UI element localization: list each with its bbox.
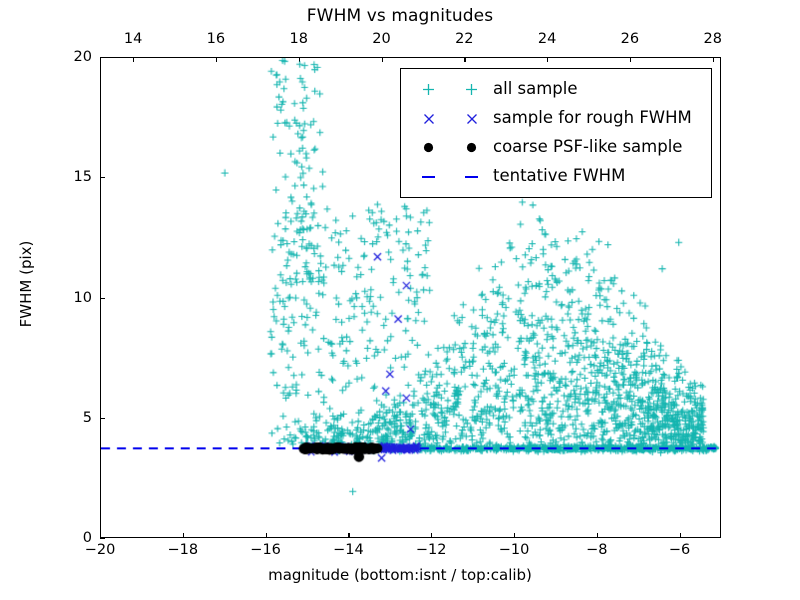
x-tick-label-top: 28 <box>703 31 721 47</box>
x-tick-label-top: 16 <box>207 31 225 47</box>
legend-marker <box>407 75 493 104</box>
y-tick-label: 15 <box>52 169 92 185</box>
legend: all sample sample for rough FWHM coarse … <box>400 68 712 198</box>
legend-marker <box>407 162 493 191</box>
x-tick-label-bottom: −16 <box>250 542 281 558</box>
legend-label: coarse PSF-like sample <box>493 139 682 156</box>
legend-item[interactable]: all sample <box>407 75 703 104</box>
x-tick-label-bottom: −6 <box>669 542 690 558</box>
y-tick <box>100 538 105 539</box>
legend-item[interactable]: tentative FWHM <box>407 162 703 191</box>
y-tick-label: 0 <box>52 530 92 546</box>
x-tick-label-top: 24 <box>538 31 556 47</box>
page-title: FWHM vs magnitudes <box>0 6 800 26</box>
legend-marker <box>407 133 493 162</box>
y-tick-label: 5 <box>52 410 92 426</box>
y-axis-label: FWHM (pix) <box>17 184 35 384</box>
figure-canvas: FWHM vs magnitudes magnitude (bottom:isn… <box>0 0 800 600</box>
x-axis-label: magnitude (bottom:isnt / top:calib) <box>0 566 800 584</box>
legend-marker <box>407 104 493 133</box>
x-tick-label-top: 22 <box>455 31 473 47</box>
legend-label: tentative FWHM <box>493 168 625 185</box>
x-tick-label-top: 26 <box>621 31 639 47</box>
legend-label: sample for rough FWHM <box>493 110 692 127</box>
x-tick-label-top: 20 <box>372 31 390 47</box>
x-tick-label-bottom: −18 <box>167 542 198 558</box>
legend-item[interactable]: coarse PSF-like sample <box>407 133 703 162</box>
legend-label: all sample <box>493 81 578 98</box>
x-tick-label-bottom: −12 <box>416 542 447 558</box>
x-tick-label-bottom: −8 <box>586 542 607 558</box>
y-tick-label: 10 <box>52 290 92 306</box>
x-tick-label-top: 14 <box>124 31 142 47</box>
legend-item[interactable]: sample for rough FWHM <box>407 104 703 133</box>
x-tick-label-bottom: −14 <box>333 542 364 558</box>
x-tick-label-top: 18 <box>289 31 307 47</box>
x-tick-label-bottom: −10 <box>499 542 530 558</box>
y-tick-label: 20 <box>52 49 92 65</box>
